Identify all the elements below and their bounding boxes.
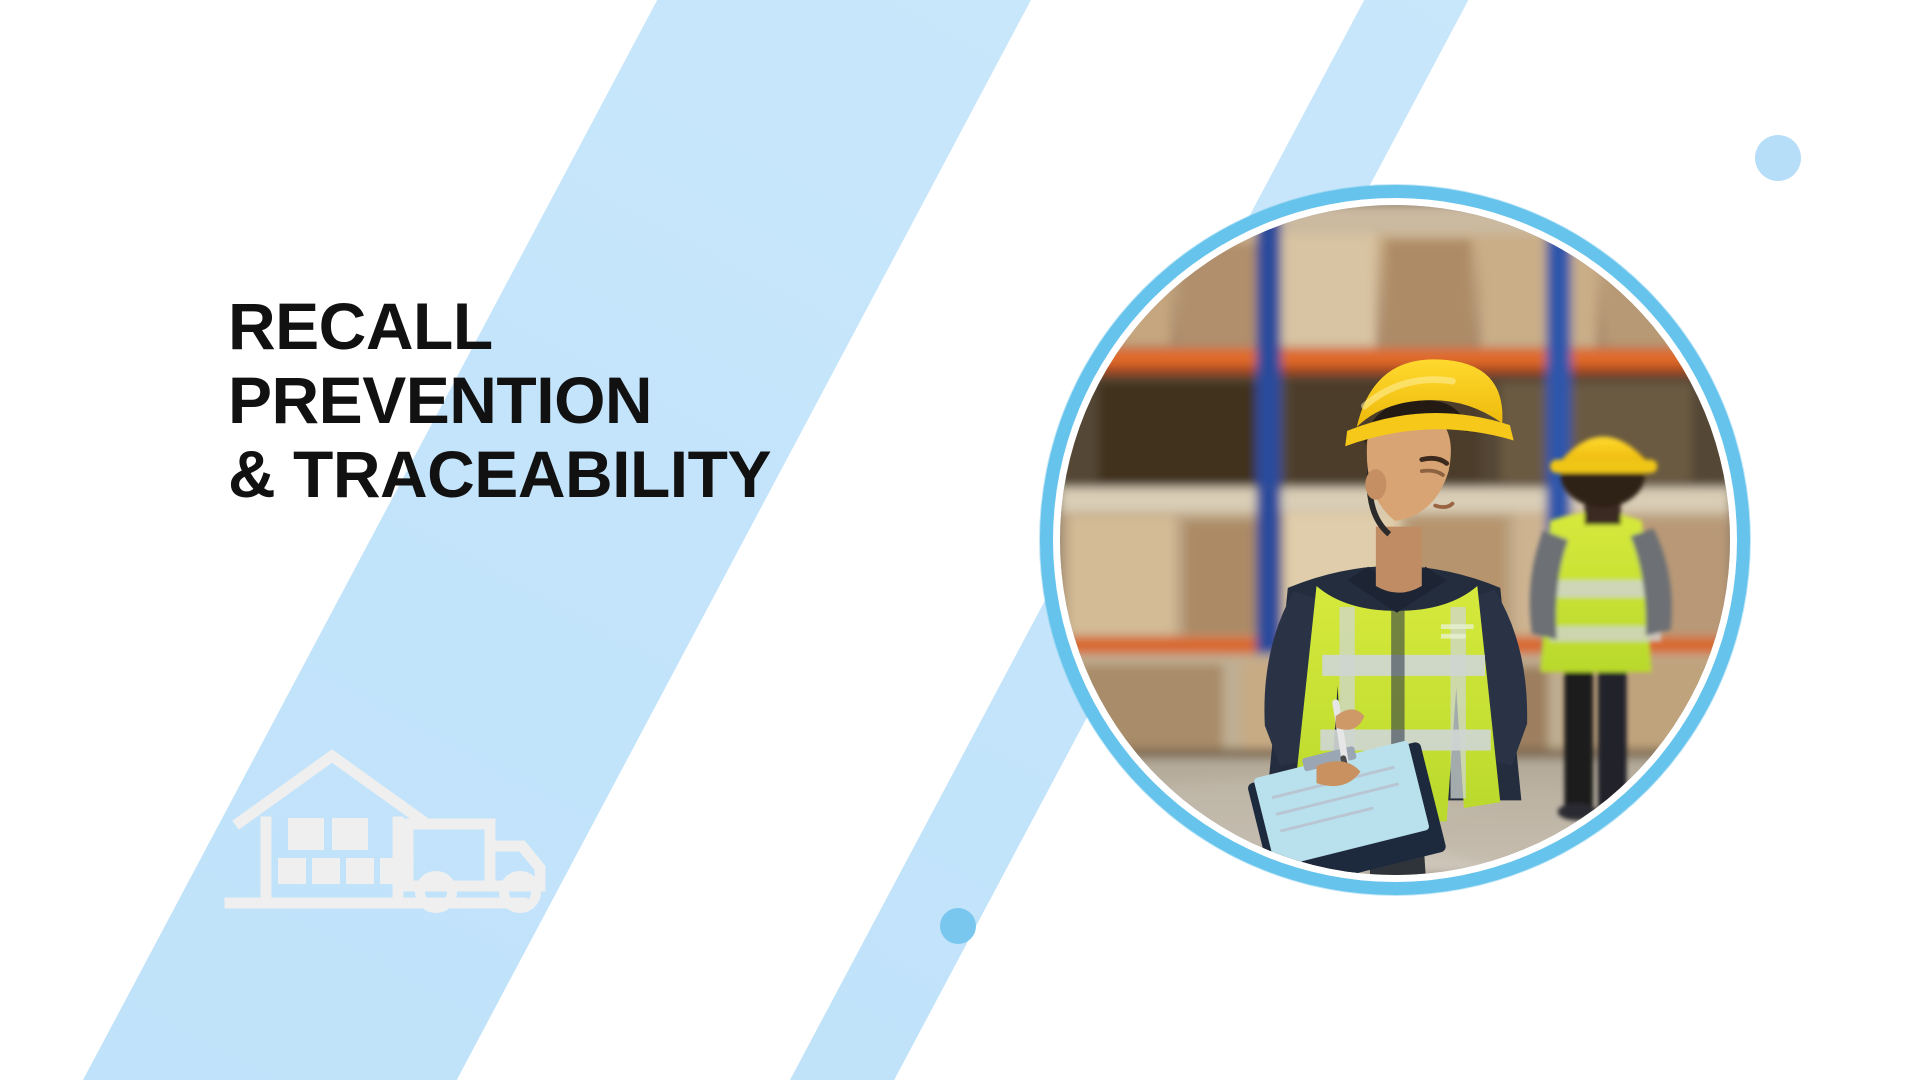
decorative-dot-bottom-left xyxy=(940,908,976,944)
warehouse-truck-icon xyxy=(222,700,562,925)
photo-ring-inner-gap xyxy=(1053,198,1737,882)
warehouse-worker-photo xyxy=(1060,205,1730,875)
warehouse-worker-photo-ring xyxy=(1040,185,1750,895)
page-title: RECALL PREVENTION & TRACEABILITY xyxy=(228,290,771,512)
photo-scene xyxy=(1060,205,1730,875)
title-line-1: RECALL xyxy=(228,290,771,364)
title-line-3: & TRACEABILITY xyxy=(228,438,771,512)
title-line-2: PREVENTION xyxy=(228,364,771,438)
decorative-dot-top-right xyxy=(1755,135,1801,181)
